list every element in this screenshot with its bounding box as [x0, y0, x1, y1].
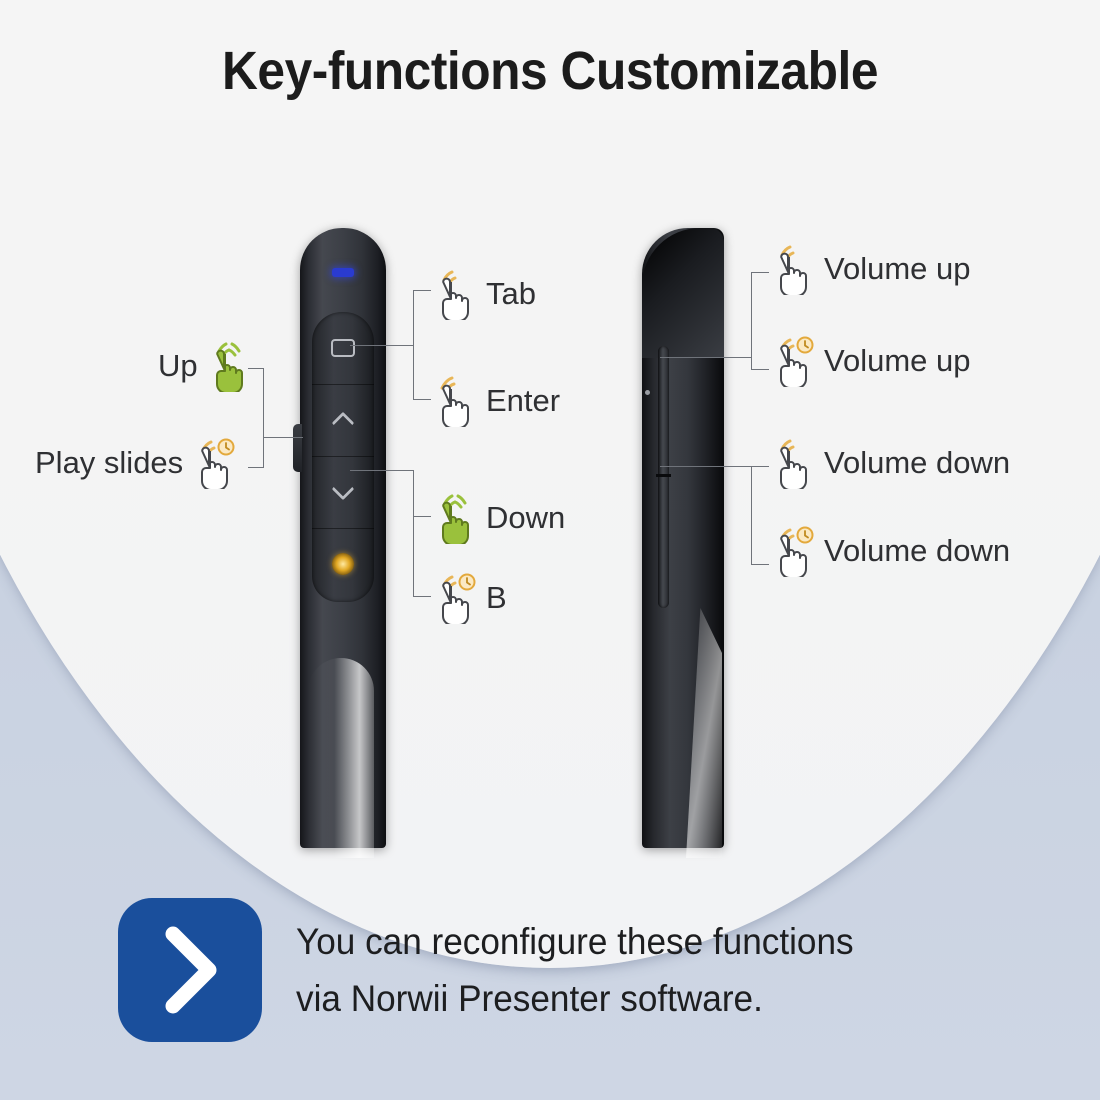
page-title: Key-functions Customizable	[44, 40, 1056, 102]
connector-tab-enter-spine	[413, 290, 414, 400]
presenter-remote-front	[300, 228, 386, 848]
volume-rocker[interactable]	[658, 346, 669, 608]
connector-left-stem	[263, 437, 303, 438]
side-highlight	[686, 608, 722, 858]
connector-voldown-bottom-stub	[751, 564, 769, 565]
hand-short-press-icon	[432, 375, 478, 427]
connector-enter-stub	[413, 399, 431, 400]
callout-volume-up-long-label: Volume up	[824, 343, 971, 379]
connector-volup-stem	[660, 357, 752, 358]
infographic-canvas: Key-functions Customizable	[0, 0, 1100, 1100]
callout-enter: Enter	[432, 375, 560, 427]
callout-volume-down-short-label: Volume down	[824, 445, 1010, 481]
hand-short-press-icon	[770, 437, 816, 489]
connector-volup-spine	[751, 272, 752, 370]
hand-short-press-green-icon	[206, 340, 252, 392]
side-top-curve	[642, 228, 724, 358]
chevron-right-badge	[118, 898, 262, 1042]
connector-voldown-top-stub	[751, 466, 769, 467]
callout-volume-up-short-label: Volume up	[824, 251, 971, 287]
hand-long-press-icon	[770, 335, 816, 387]
hand-long-press-icon	[432, 572, 478, 624]
callout-volume-down-long: Volume down	[770, 525, 1010, 577]
connector-left-bottom	[248, 467, 264, 468]
hand-long-press-icon	[191, 437, 237, 489]
callout-volume-up-short: Volume up	[770, 243, 971, 295]
connector-down-b-spine	[413, 470, 414, 597]
down-key[interactable]	[312, 456, 374, 529]
callout-play-slides-label: Play slides	[35, 445, 183, 481]
hand-short-press-icon	[432, 268, 478, 320]
chevron-down-icon	[333, 482, 353, 502]
callout-enter-label: Enter	[486, 383, 560, 419]
side-pinhole	[645, 390, 650, 395]
callout-b-label: B	[486, 580, 507, 616]
callout-down: Down	[432, 492, 565, 544]
connector-left-spine	[263, 368, 264, 468]
callout-down-label: Down	[486, 500, 565, 536]
connector-b-stub	[413, 596, 431, 597]
callout-volume-down-short: Volume down	[770, 437, 1010, 489]
hand-short-press-icon	[770, 243, 816, 295]
hand-short-press-green-icon	[432, 492, 478, 544]
side-button[interactable]	[293, 424, 302, 472]
hand-long-press-icon	[770, 525, 816, 577]
connector-voldown-stem	[660, 466, 752, 467]
callout-up-label: Up	[158, 348, 198, 384]
connector-down-stub	[413, 516, 431, 517]
screen-key[interactable]	[312, 312, 374, 385]
footer-line-2: via Norwii Presenter software.	[296, 970, 854, 1027]
chevron-right-icon	[151, 922, 229, 1018]
callout-up: Up	[158, 340, 252, 392]
callout-play-slides: Play slides	[35, 437, 237, 489]
footer-line-1: You can reconfigure these functions	[296, 913, 854, 970]
laser-sun-icon	[332, 553, 354, 575]
presenter-remote-side	[642, 228, 724, 848]
footer-text: You can reconfigure these functions via …	[296, 913, 854, 1028]
callout-tab-label: Tab	[486, 276, 536, 312]
body-highlight	[308, 658, 374, 858]
chevron-up-icon	[333, 410, 353, 430]
callout-volume-up-long: Volume up	[770, 335, 971, 387]
up-key[interactable]	[312, 384, 374, 457]
footer-banner: You can reconfigure these functions via …	[118, 898, 883, 1042]
rocker-divider	[656, 474, 671, 477]
keypad	[312, 312, 374, 602]
connector-down-b-stem	[350, 470, 414, 471]
connector-tab-enter-stem	[350, 345, 414, 346]
indicator-led	[332, 268, 354, 277]
screen-icon	[331, 339, 355, 357]
connector-voldown-spine	[751, 466, 752, 565]
connector-tab-stub	[413, 290, 431, 291]
connector-volup-top-stub	[751, 272, 769, 273]
connector-volup-bottom-stub	[751, 369, 769, 370]
callout-b: B	[432, 572, 507, 624]
callout-volume-down-long-label: Volume down	[824, 533, 1010, 569]
laser-key[interactable]	[312, 528, 374, 600]
callout-tab: Tab	[432, 268, 536, 320]
